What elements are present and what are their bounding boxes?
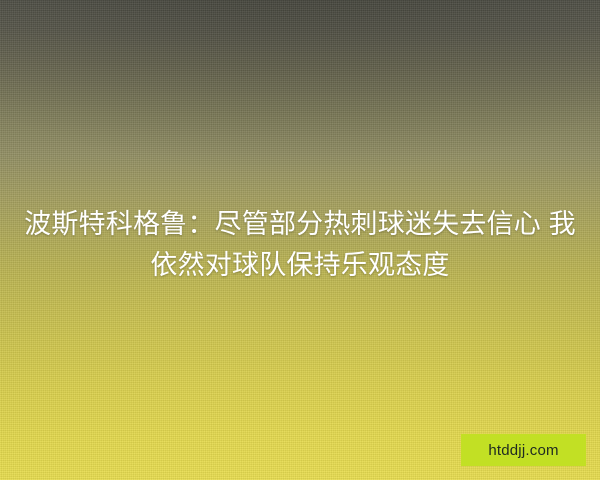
article-thumbnail-card: 波斯特科格鲁：尽管部分热刺球迷失去信心 我依然对球队保持乐观态度 htddjj.… [0,0,600,480]
watermark-badge: htddjj.com [461,434,586,466]
watermark-label: htddjj.com [488,443,558,458]
headline-text: 波斯特科格鲁：尽管部分热刺球迷失去信心 我依然对球队保持乐观态度 [0,204,600,286]
